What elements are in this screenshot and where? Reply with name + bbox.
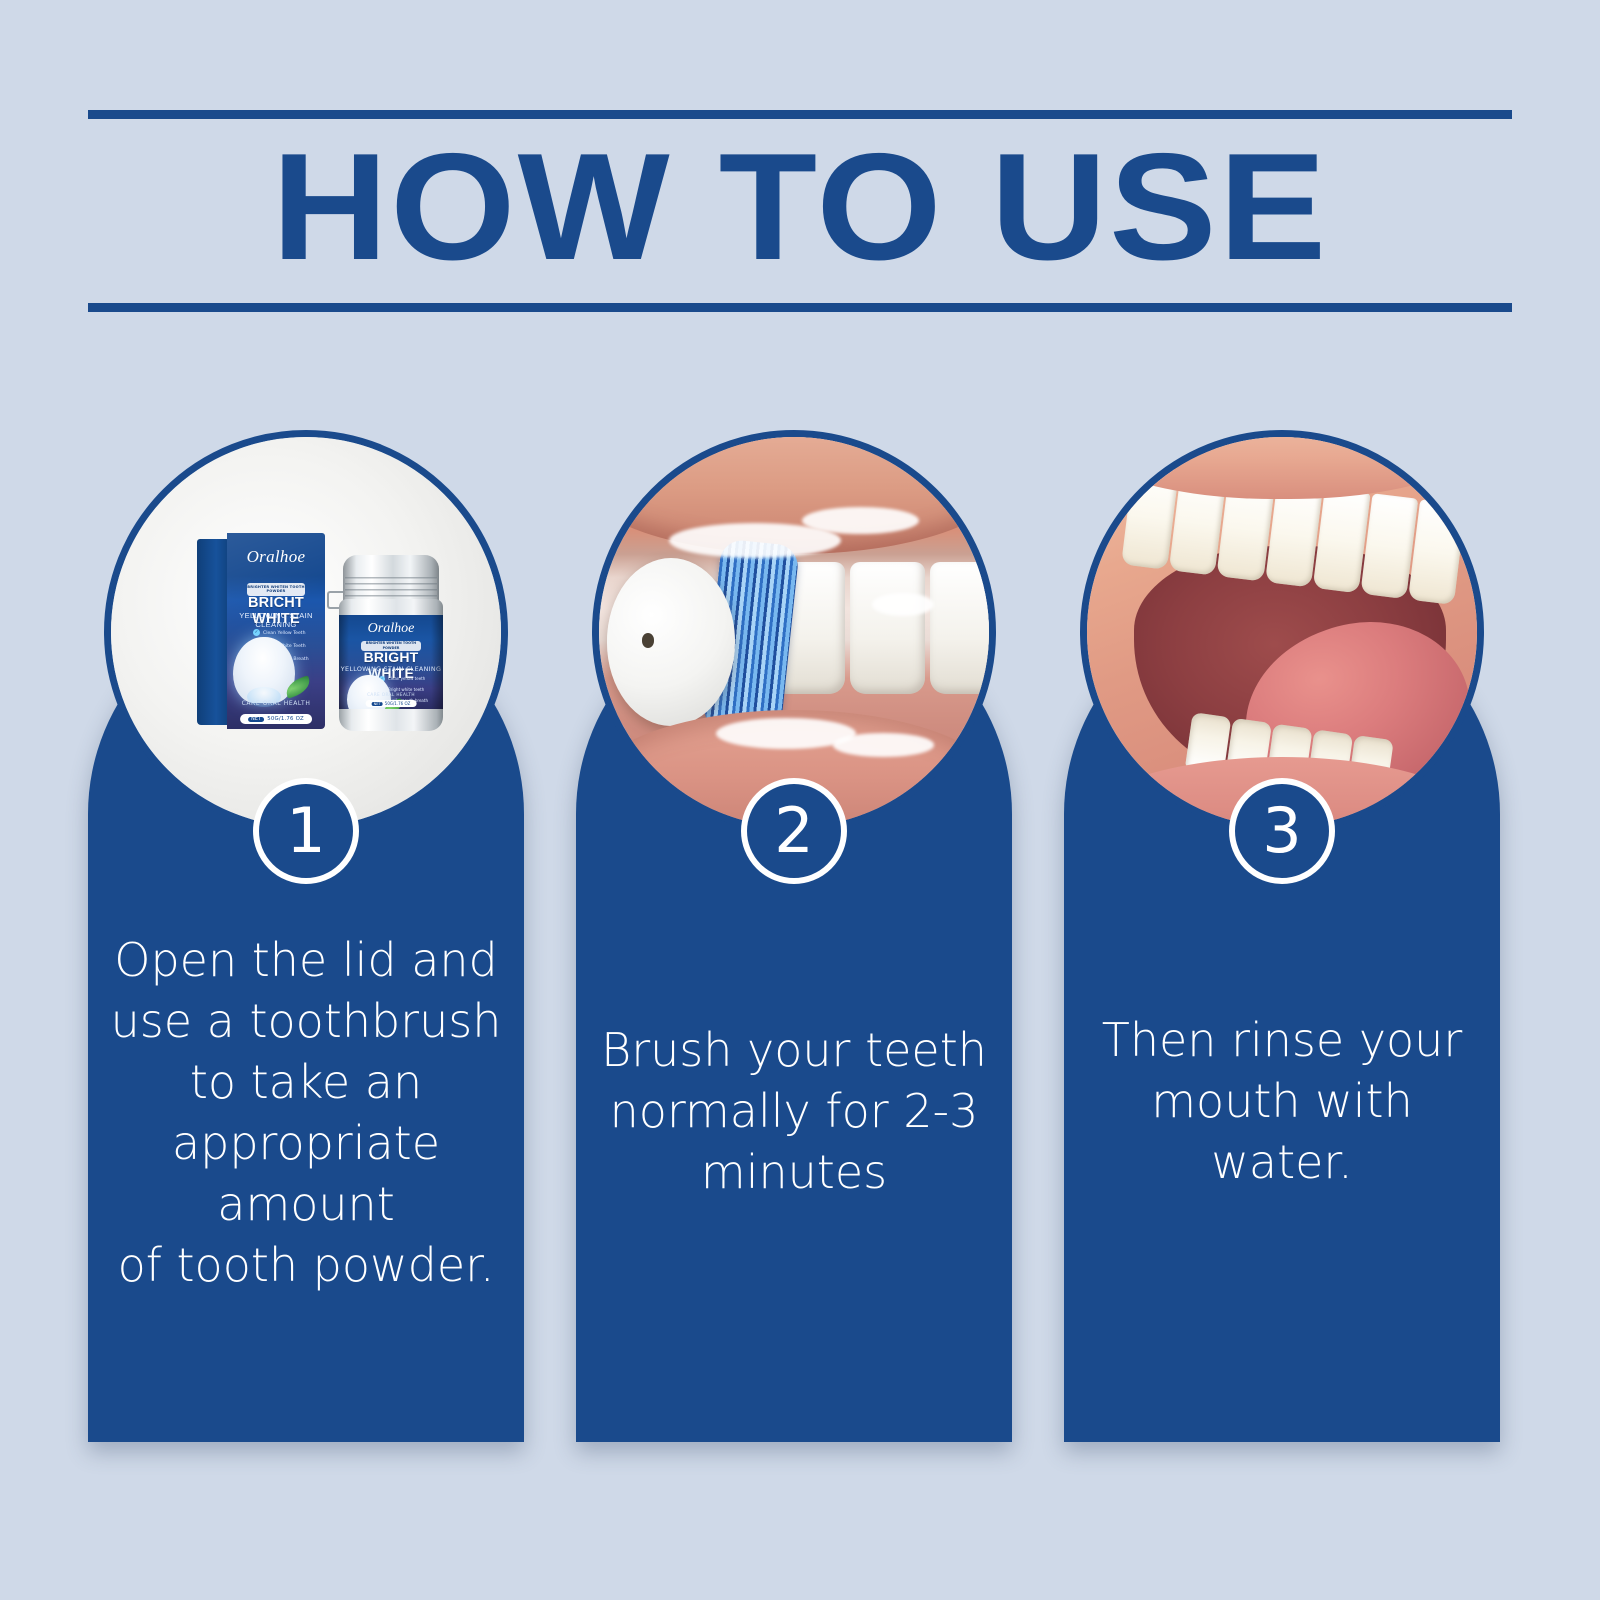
box-net-label: NET (248, 717, 264, 722)
jar-net-value: 50G/1.76 OZ (385, 701, 411, 706)
jar-lid (343, 555, 439, 605)
jar-body: Oralhoe BRIGHTER WHITEN TOOTH POWDER BRI… (339, 599, 443, 731)
product-box: Oralhoe BRIGHTER WHITEN TOOTH POWDER BRI… (197, 533, 325, 729)
tooth (1408, 499, 1466, 605)
box-brand-label: Oralhoe (227, 547, 325, 567)
tooth (930, 562, 996, 695)
step-number-2: 2 (774, 800, 813, 862)
header: HOW TO USE (88, 110, 1512, 312)
title-rule-bottom (88, 303, 1512, 312)
jar-footer-text: CARE ORAL HEALTH (339, 692, 443, 697)
jar-net-label: NET (372, 702, 383, 706)
step-number-badge-1: 1 (253, 778, 359, 884)
tooth (850, 562, 925, 695)
teeth-row (771, 562, 996, 695)
step-number-badge-3: 3 (1229, 778, 1335, 884)
product-jar: Oralhoe BRIGHTER WHITEN TOOTH POWDER BRI… (339, 555, 443, 731)
step-caption-3: Then rinse your mouth with water. (1074, 1010, 1490, 1193)
jar-benefit-item: Clean yellow teeth (379, 673, 435, 684)
box-side-panel (197, 539, 229, 725)
page-title: HOW TO USE (45, 119, 1554, 303)
steps-container: Oralhoe BRIGHTER WHITEN TOOTH POWDER BRI… (0, 430, 1600, 1490)
box-front-panel: Oralhoe BRIGHTER WHITEN TOOTH POWDER BRI… (227, 533, 325, 729)
jar-label: Oralhoe BRIGHTER WHITEN TOOTH POWDER BRI… (339, 615, 443, 709)
box-net-weight: NET50G/1.76 OZ (240, 714, 312, 724)
jar-net-weight: NET50G/1.76 OZ (366, 700, 417, 707)
product-package-photo: Oralhoe BRIGHTER WHITEN TOOTH POWDER BRI… (111, 437, 501, 827)
step-number-3: 3 (1262, 800, 1301, 862)
open-mouth-clean-teeth-photo (1087, 437, 1477, 827)
step-caption-2: Brush your teeth normally for 2-3 minute… (586, 1020, 1002, 1203)
toothbrush-brushing-teeth-photo (599, 437, 989, 827)
step-image-1: Oralhoe BRIGHTER WHITEN TOOTH POWDER BRI… (104, 430, 508, 834)
jar-subhead: YELLOWING STAIN CLEANING (339, 665, 443, 673)
step-number-1: 1 (286, 800, 325, 862)
jar-brand-label: Oralhoe (339, 621, 443, 637)
title-rule-top (88, 110, 1512, 119)
foam-blob (833, 733, 934, 756)
toothbrush-head (607, 558, 736, 726)
box-footer-text: CARE ORAL HEALTH (227, 700, 325, 707)
step-card-1: Oralhoe BRIGHTER WHITEN TOOTH POWDER BRI… (88, 430, 524, 1442)
box-net-value: 50G/1.76 OZ (267, 716, 304, 722)
step-image-3 (1080, 430, 1484, 834)
step-card-3: 3 Then rinse your mouth with water. (1064, 430, 1500, 1442)
step-number-badge-2: 2 (741, 778, 847, 884)
step-card-2: 2 Brush your teeth normally for 2-3 minu… (576, 430, 1012, 1442)
step-caption-1: Open the lid and use a toothbrush to tak… (98, 930, 514, 1296)
step-image-2 (592, 430, 996, 834)
box-tagline: BRIGHTER WHITEN TOOTH POWDER (247, 583, 305, 596)
